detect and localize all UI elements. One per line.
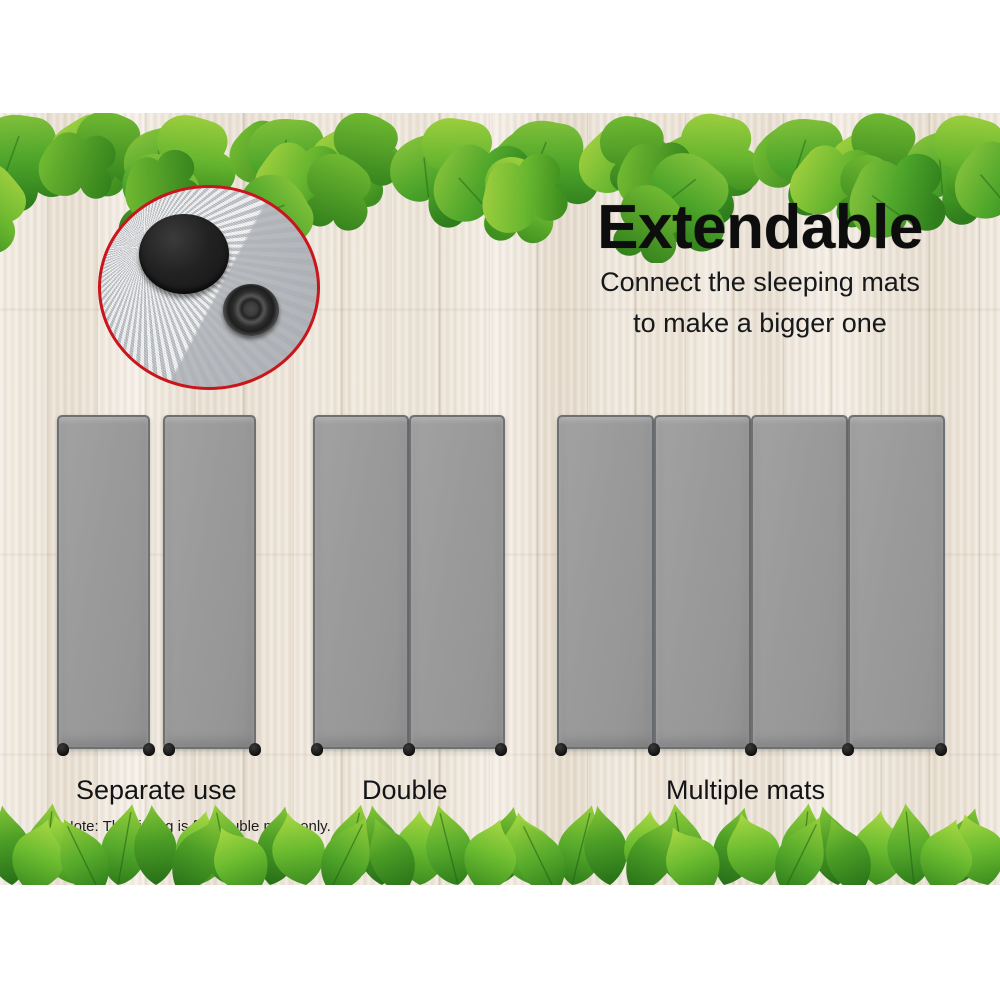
label-multiple-mats: Multiple mats — [666, 775, 825, 806]
label-double: Double — [362, 775, 448, 806]
mat-rect — [751, 415, 848, 749]
mat-rect — [557, 415, 654, 749]
mat-configuration-diagram: Separate use Double Multiple mats — [0, 0, 1000, 772]
snap-dot — [935, 743, 947, 756]
snap-dot — [648, 743, 660, 756]
snap-dot — [745, 743, 757, 756]
label-separate-use: Separate use — [76, 775, 237, 806]
footnote: *Note: This listing is for double mats o… — [57, 818, 331, 835]
mat-rect — [848, 415, 945, 749]
mat-rect — [654, 415, 751, 749]
snap-dot — [555, 743, 567, 756]
snap-dot — [842, 743, 854, 756]
mat-group-multiple — [0, 415, 1000, 749]
product-infographic: Extendable Connect the sleeping mats to … — [0, 0, 1000, 1000]
